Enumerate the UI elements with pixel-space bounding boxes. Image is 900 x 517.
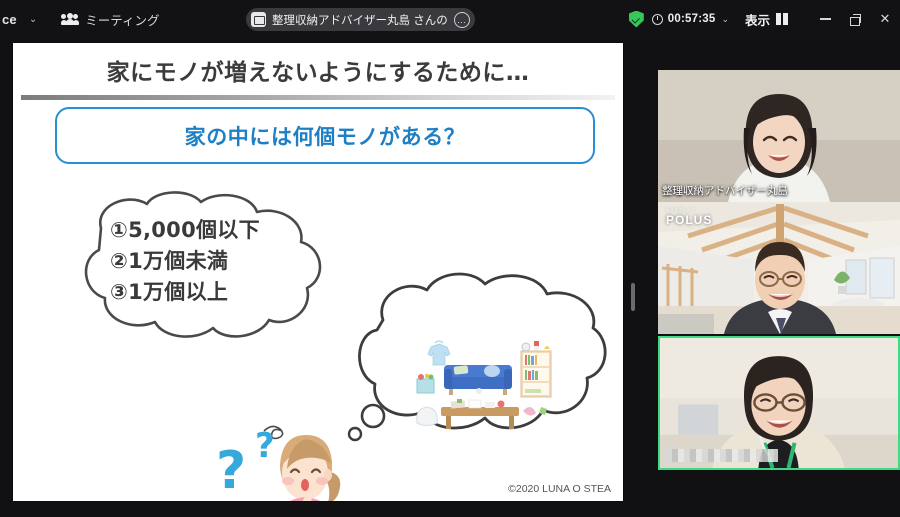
app-name-label: ce: [2, 12, 17, 27]
people-icon: [61, 13, 78, 26]
participant-name-label: 整理収納アドバイザー丸島: [662, 183, 788, 198]
minimize-icon: [820, 18, 831, 20]
shared-content-pill[interactable]: 整理収納アドバイザー丸島 さんの …: [246, 8, 475, 31]
question-mark-large-icon: ?: [216, 441, 246, 501]
blurred-name-label: [666, 449, 778, 462]
slide-title: 家にモノが増えないようにするために…: [13, 43, 623, 87]
choice-list: ①5,000個以下 ②1万個未満 ③1万個以上: [110, 215, 260, 308]
restore-icon: [850, 14, 860, 24]
video-tile[interactable]: 整理収納アドバイザー丸島: [658, 70, 900, 202]
layout-grid-icon[interactable]: [776, 13, 788, 25]
meeting-button[interactable]: ミーティング: [61, 10, 159, 29]
polus-sub-label: ポラスグループ: [666, 208, 712, 213]
shared-content-label: 整理収納アドバイザー丸島 さんの: [272, 12, 448, 28]
panel-resize-handle[interactable]: [631, 283, 635, 311]
video-tile-active-speaker[interactable]: [658, 336, 900, 470]
clock-icon: [652, 14, 663, 25]
titlebar-right-group: 00:57:35 ⌄ 表示 ✕: [629, 0, 900, 38]
room-svg: [411, 335, 561, 435]
copyright-text: ©2020 LUNA O STEA: [508, 483, 611, 495]
title-divider: [21, 95, 615, 100]
question-mark-small-icon: ?: [255, 426, 275, 466]
titlebar-left-group: ce ⌄ ミーティング: [0, 10, 160, 29]
restore-button[interactable]: [840, 0, 870, 38]
timer-chevron-down-icon[interactable]: ⌄: [721, 14, 729, 25]
video-tile[interactable]: ポラスグループ POLUS: [658, 202, 900, 334]
meeting-window: ce ⌄ ミーティング 整理収納アドバイザー丸島 さんの … 00:57:35 …: [0, 0, 900, 517]
minimize-button[interactable]: [810, 0, 840, 38]
question-box-text: 家の中には何個モノがある？: [185, 121, 466, 151]
more-options-icon[interactable]: …: [454, 12, 470, 28]
close-icon: ✕: [880, 11, 891, 27]
question-box: 家の中には何個モノがある？: [55, 107, 595, 164]
polus-watermark: ポラスグループ POLUS: [666, 208, 712, 227]
choice-item: ②1万個未満: [110, 246, 260, 277]
view-button-label[interactable]: 表示: [745, 10, 770, 29]
participant-video-panel: 整理収納アドバイザー丸島: [658, 70, 900, 470]
choice-item: ①5,000個以下: [110, 215, 260, 246]
screen-share-icon: [251, 12, 266, 27]
shield-icon: [629, 11, 644, 28]
meeting-timer: 00:57:35: [668, 13, 716, 25]
window-titlebar: ce ⌄ ミーティング 整理収納アドバイザー丸島 さんの … 00:57:35 …: [0, 0, 900, 38]
choice-item: ③1万個以上: [110, 277, 260, 308]
shared-slide: 家にモノが増えないようにするために… 家の中には何個モノがある？ ①5,000個…: [12, 42, 624, 502]
app-menu-chevron-down-icon[interactable]: ⌄: [27, 14, 39, 25]
close-button[interactable]: ✕: [870, 0, 900, 38]
polus-label: POLUS: [666, 213, 712, 227]
messy-room-illustration: [411, 335, 561, 435]
meeting-label: ミーティング: [85, 10, 159, 29]
